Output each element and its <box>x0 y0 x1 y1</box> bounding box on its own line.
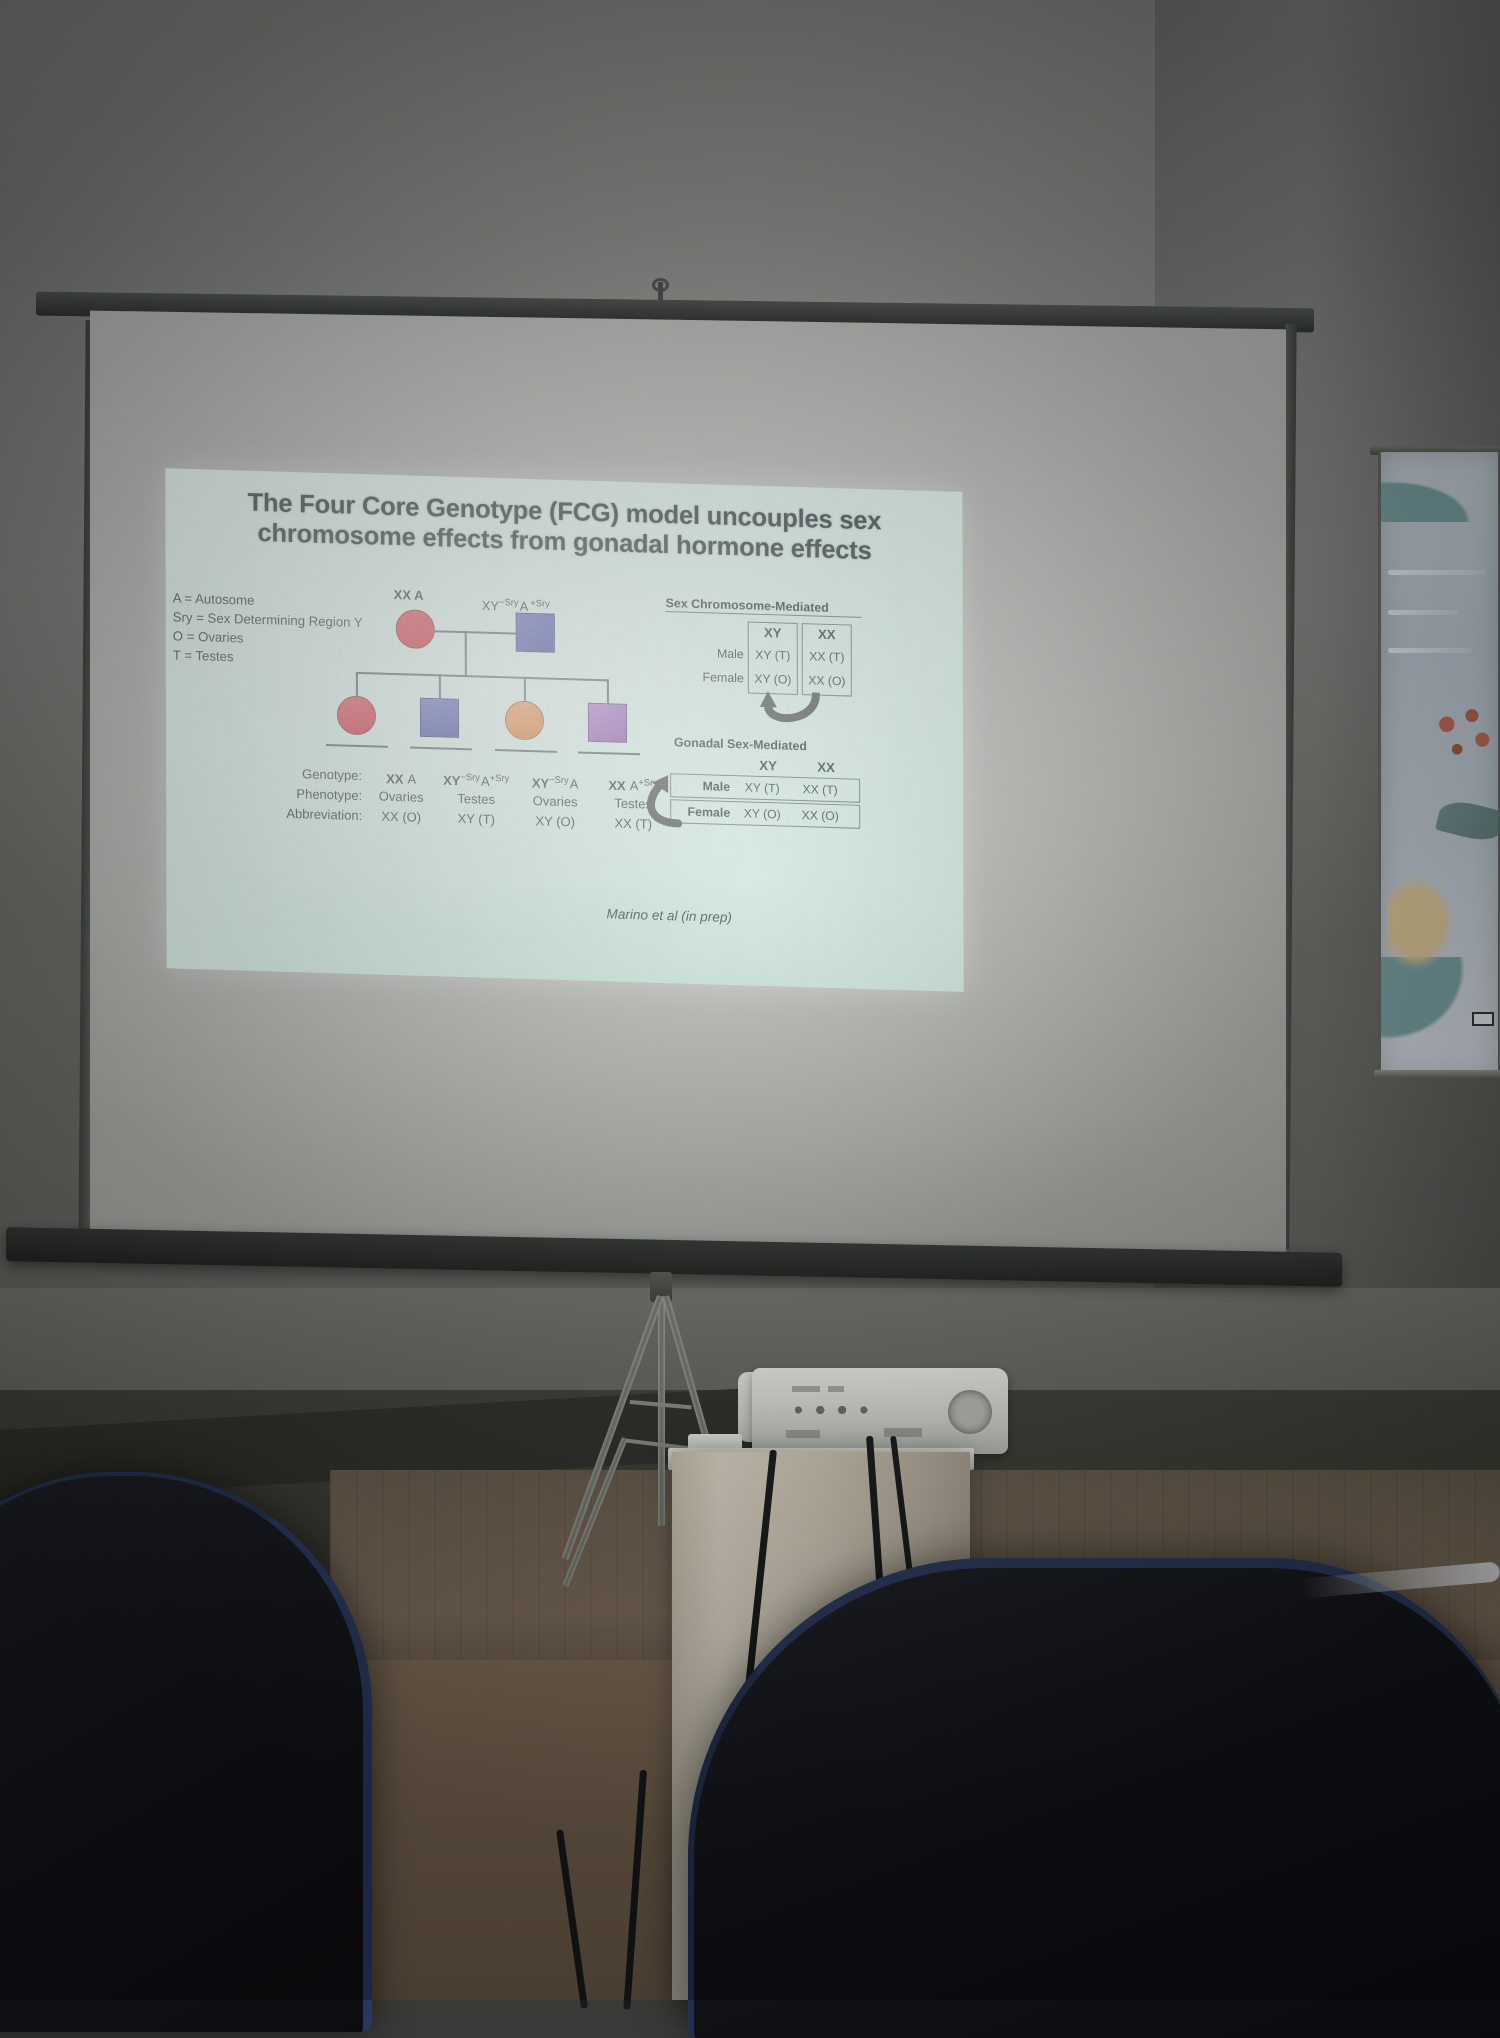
gonadal-cell-male-xx: XX (T) <box>794 782 846 798</box>
genotype-1-base2: A <box>407 772 416 787</box>
genotype-3-base1: XY <box>532 775 549 791</box>
phenotype-cell-3: Ovaries <box>518 793 592 810</box>
slide-title: The Four Core Genotype (FCG) model uncou… <box>193 487 935 568</box>
slide-citation: Marino et al (in prep) <box>606 906 731 925</box>
row-label-abbreviation: Abbreviation: <box>246 805 362 823</box>
pedigree-father-square <box>516 613 555 653</box>
u-turn-arrow-icon <box>758 691 824 737</box>
offspring-drop-line <box>524 677 526 701</box>
genotype-3-sup1: −Sry <box>549 774 569 786</box>
phenotype-cell-2: Testes <box>436 790 516 807</box>
gonadal-panel-title: Gonadal Sex-Mediated <box>674 735 807 753</box>
banner-streak <box>1388 610 1458 615</box>
pedigree-diagram: XX A XY−SryA+Sry <box>334 585 675 795</box>
offspring-1-circle <box>337 695 376 735</box>
projector-label-strip <box>792 1386 820 1392</box>
projected-slide: The Four Core Genotype (FCG) model uncou… <box>165 468 963 992</box>
projector-connector-strip <box>786 1430 820 1438</box>
sex-chromosome-cell-female-xy: XY (O) <box>748 671 798 686</box>
genotype-3-base2: A <box>570 777 579 792</box>
gonadal-cell-female-xx: XX (O) <box>794 808 846 824</box>
tripod-leg-center <box>658 1296 665 1526</box>
offspring-2-underline <box>410 746 472 749</box>
abbreviation-cell-3: XY (O) <box>518 813 592 830</box>
banner-teal-top <box>1381 452 1498 522</box>
genotype-cell-2: XY−SryA+Sry <box>436 770 516 790</box>
father-xy-text: XY <box>482 598 499 614</box>
gonadal-cell-male-xy: XY (T) <box>736 780 788 796</box>
sibship-line <box>356 672 608 681</box>
screen-canvas: The Four Core Genotype (FCG) model uncou… <box>90 311 1286 1270</box>
gonadal-cell-female-xy: XY (O) <box>736 806 788 822</box>
abbreviation-cell-1: XX (O) <box>368 808 434 825</box>
offspring-1-underline <box>326 744 388 747</box>
mother-genotype-label: XX A <box>394 587 424 603</box>
banner-gold-motif <box>1387 872 1465 982</box>
scene-photograph: The Four Core Genotype (FCG) model uncou… <box>0 0 1500 2000</box>
genotype-cell-3: XY−SryA <box>518 773 592 793</box>
gonadal-header-xx: XX <box>800 759 852 776</box>
father-sry-minus-sup: −Sry <box>499 596 519 608</box>
mating-line <box>435 630 516 634</box>
banner-rod-bottom <box>1374 1070 1500 1078</box>
sex-chromosome-header-xx: XX <box>802 626 852 642</box>
genotype-2-base1: XY <box>443 773 460 789</box>
genotype-cell-1: XXA <box>368 768 434 787</box>
banner-leaf-motif <box>1435 797 1500 846</box>
sex-chromosome-row-male: Male <box>660 645 744 661</box>
offspring-3-circle <box>505 700 544 740</box>
banner-flower-motif <box>1432 707 1500 803</box>
sex-chromosome-header-xy: XY <box>748 624 798 640</box>
offspring-4-square <box>588 703 627 743</box>
sex-chromosome-cell-male-xy: XY (T) <box>748 647 798 662</box>
abbreviation-cell-2: XY (T) <box>436 810 516 827</box>
wall-banner <box>1378 452 1500 1077</box>
chair-right-blue-trim <box>688 1558 1500 2038</box>
sex-chromosome-cell-female-xx: XX (O) <box>802 673 852 688</box>
genotype-4-base1: XX <box>608 778 625 794</box>
projector-ports <box>790 1402 874 1418</box>
offspring-2-square <box>420 698 459 738</box>
row-label-genotype: Genotype: <box>246 765 362 783</box>
genotype-2-sup1: −Sry <box>460 771 480 783</box>
offspring-3-underline <box>495 749 557 752</box>
projection-screen: The Four Core Genotype (FCG) model uncou… <box>36 300 1314 1280</box>
phenotype-cell-1: Ovaries <box>368 788 434 805</box>
banner-streak <box>1388 570 1486 575</box>
descent-line <box>465 631 467 675</box>
gonadal-header-xy: XY <box>742 757 794 774</box>
projector-connector-strip <box>884 1428 922 1437</box>
genotype-2-base2: A <box>481 774 490 789</box>
pedigree-mother-circle <box>396 609 435 649</box>
sex-chromosome-row-female: Female <box>660 669 744 685</box>
genotype-2-sup2: +Sry <box>490 772 510 784</box>
offspring-drop-line <box>356 672 358 696</box>
offspring-4-underline <box>578 751 640 754</box>
banner-seal-mark <box>1472 1012 1494 1026</box>
row-label-phenotype: Phenotype: <box>246 785 362 803</box>
father-sry-plus-sup: +Sry <box>530 597 550 609</box>
offspring-drop-line <box>607 679 609 703</box>
sex-chromosome-cell-male-xx: XX (T) <box>802 649 852 664</box>
projector-vent-grille-icon <box>948 1390 992 1434</box>
banner-streak <box>1388 648 1472 653</box>
projector-label-strip <box>828 1386 844 1392</box>
feedback-arrow-icon <box>630 768 686 832</box>
offspring-drop-line <box>439 674 441 698</box>
genotype-1-base1: XX <box>386 771 403 787</box>
